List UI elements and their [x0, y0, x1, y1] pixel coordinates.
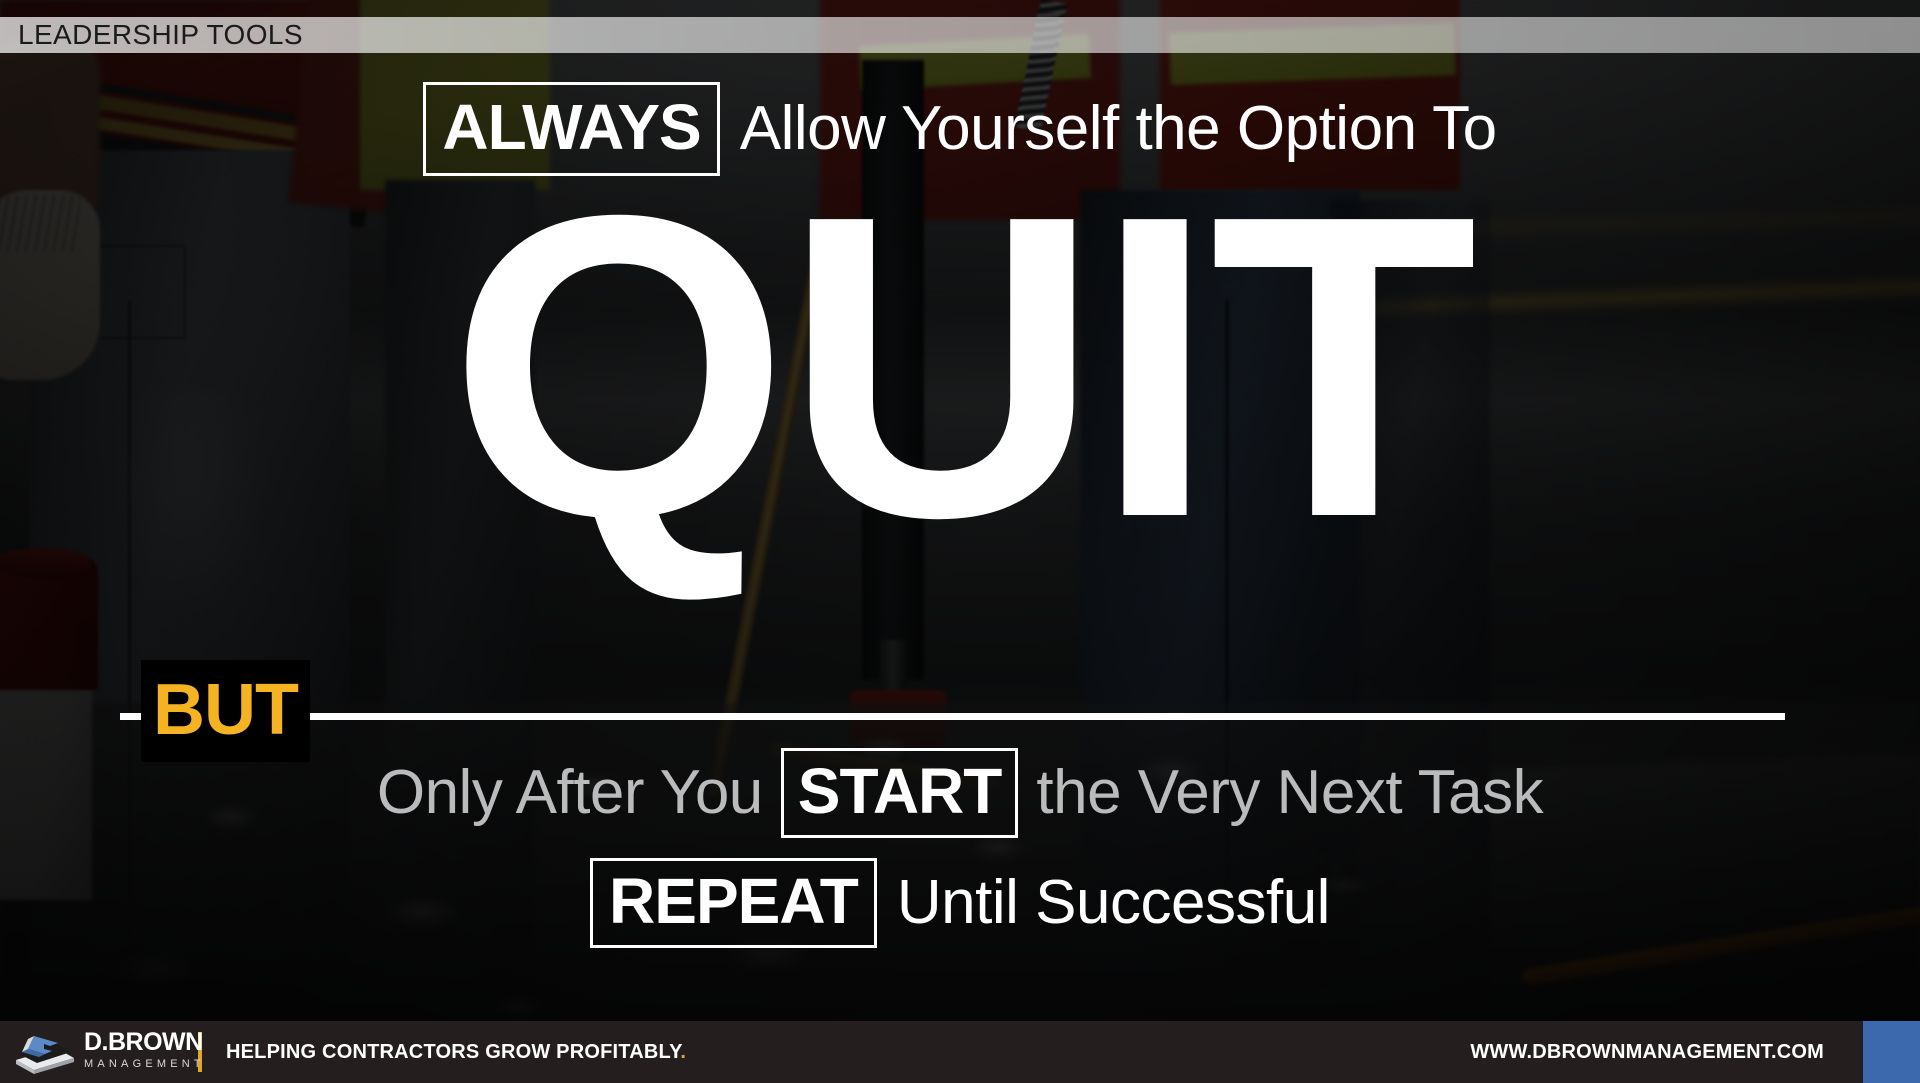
but-badge: BUT [141, 660, 310, 762]
brand-subtitle: MANAGEMENT [84, 1059, 205, 1070]
dbrown-cube-icon [14, 1030, 76, 1076]
slide-content: ALWAYS Allow Yourself the Option To QUIT… [0, 0, 1920, 1083]
footer-tagline: HELPING CONTRACTORS GROW PROFITABLY. [226, 1041, 686, 1064]
horizontal-rule [120, 713, 1785, 720]
slide-canvas: LEADERSHIP TOOLS ALWAYS Allow Yourself t… [0, 0, 1920, 1083]
start-suffix: the Very Next Task [1036, 762, 1543, 824]
footer-bar: D.BROWN MANAGEMENT HELPING CONTRACTORS G… [0, 1021, 1920, 1083]
start-prefix: Only After You [377, 762, 763, 824]
repeat-badge: REPEAT [590, 858, 877, 948]
start-badge: START [781, 748, 1019, 838]
footer-blue-block [1863, 1021, 1920, 1083]
footer-website[interactable]: WWW.DBROWNMANAGEMENT.COM [1470, 1041, 1824, 1064]
line-repeat: REPEAT Until Successful [0, 858, 1920, 948]
brand-name: D.BROWN [84, 1030, 205, 1055]
line-start: Only After You START the Very Next Task [0, 748, 1920, 838]
footer-tagline-period: . [680, 1041, 686, 1063]
brand-text: D.BROWN MANAGEMENT [84, 1030, 205, 1070]
headline-quit: QUIT [0, 178, 1920, 556]
brand-logo[interactable]: D.BROWN MANAGEMENT [14, 1026, 164, 1078]
repeat-statement: Until Successful [897, 872, 1330, 934]
footer-tagline-text: HELPING CONTRACTORS GROW PROFITABLY [226, 1041, 680, 1063]
